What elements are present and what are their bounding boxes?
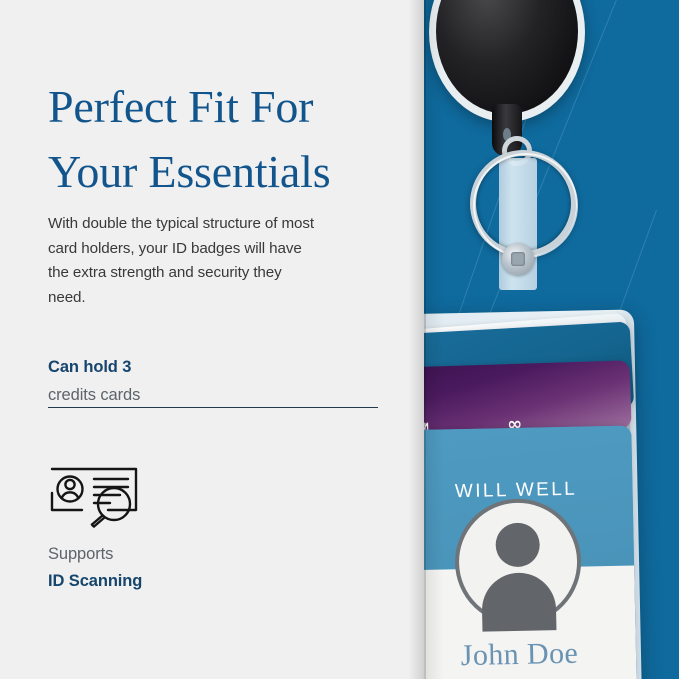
product-photo: ꖦ ∞ WILL WELL John Doe [420,0,679,679]
card-holder: ꖦ ∞ WILL WELL John Doe [420,309,642,679]
copy-panel: Perfect Fit For Your Essentials With dou… [0,0,424,679]
headline-line-2: Your Essentials [48,139,388,204]
feature-capacity: Can hold 3 credits cards [48,355,378,408]
id-badge-card: WILL WELL John Doe [420,426,637,679]
body-copy: With double the typical structure of mos… [48,212,316,311]
avatar-head [495,522,540,567]
feature-scanning-strong: ID Scanning [48,569,308,595]
id-card-person-name: John Doe [420,635,636,674]
page-title: Perfect Fit For Your Essentials [48,74,388,205]
headline-line-1: Perfect Fit For [48,74,388,139]
product-feature-image: ꖦ ∞ WILL WELL John Doe Perfect Fit For Y… [0,0,679,679]
feature-capacity-strong: Can hold 3 [48,355,378,380]
metal-split-ring [470,150,577,257]
feature-capacity-light: credits cards [48,382,378,408]
feature-scanning-light: Supports [48,541,308,567]
id-card-scan-icon [48,463,140,531]
avatar-body [481,572,556,632]
section-divider [48,407,378,408]
strap-snap-button [502,243,534,275]
panel-edge-shadow [408,0,426,679]
feature-scanning: Supports ID Scanning [48,541,308,595]
